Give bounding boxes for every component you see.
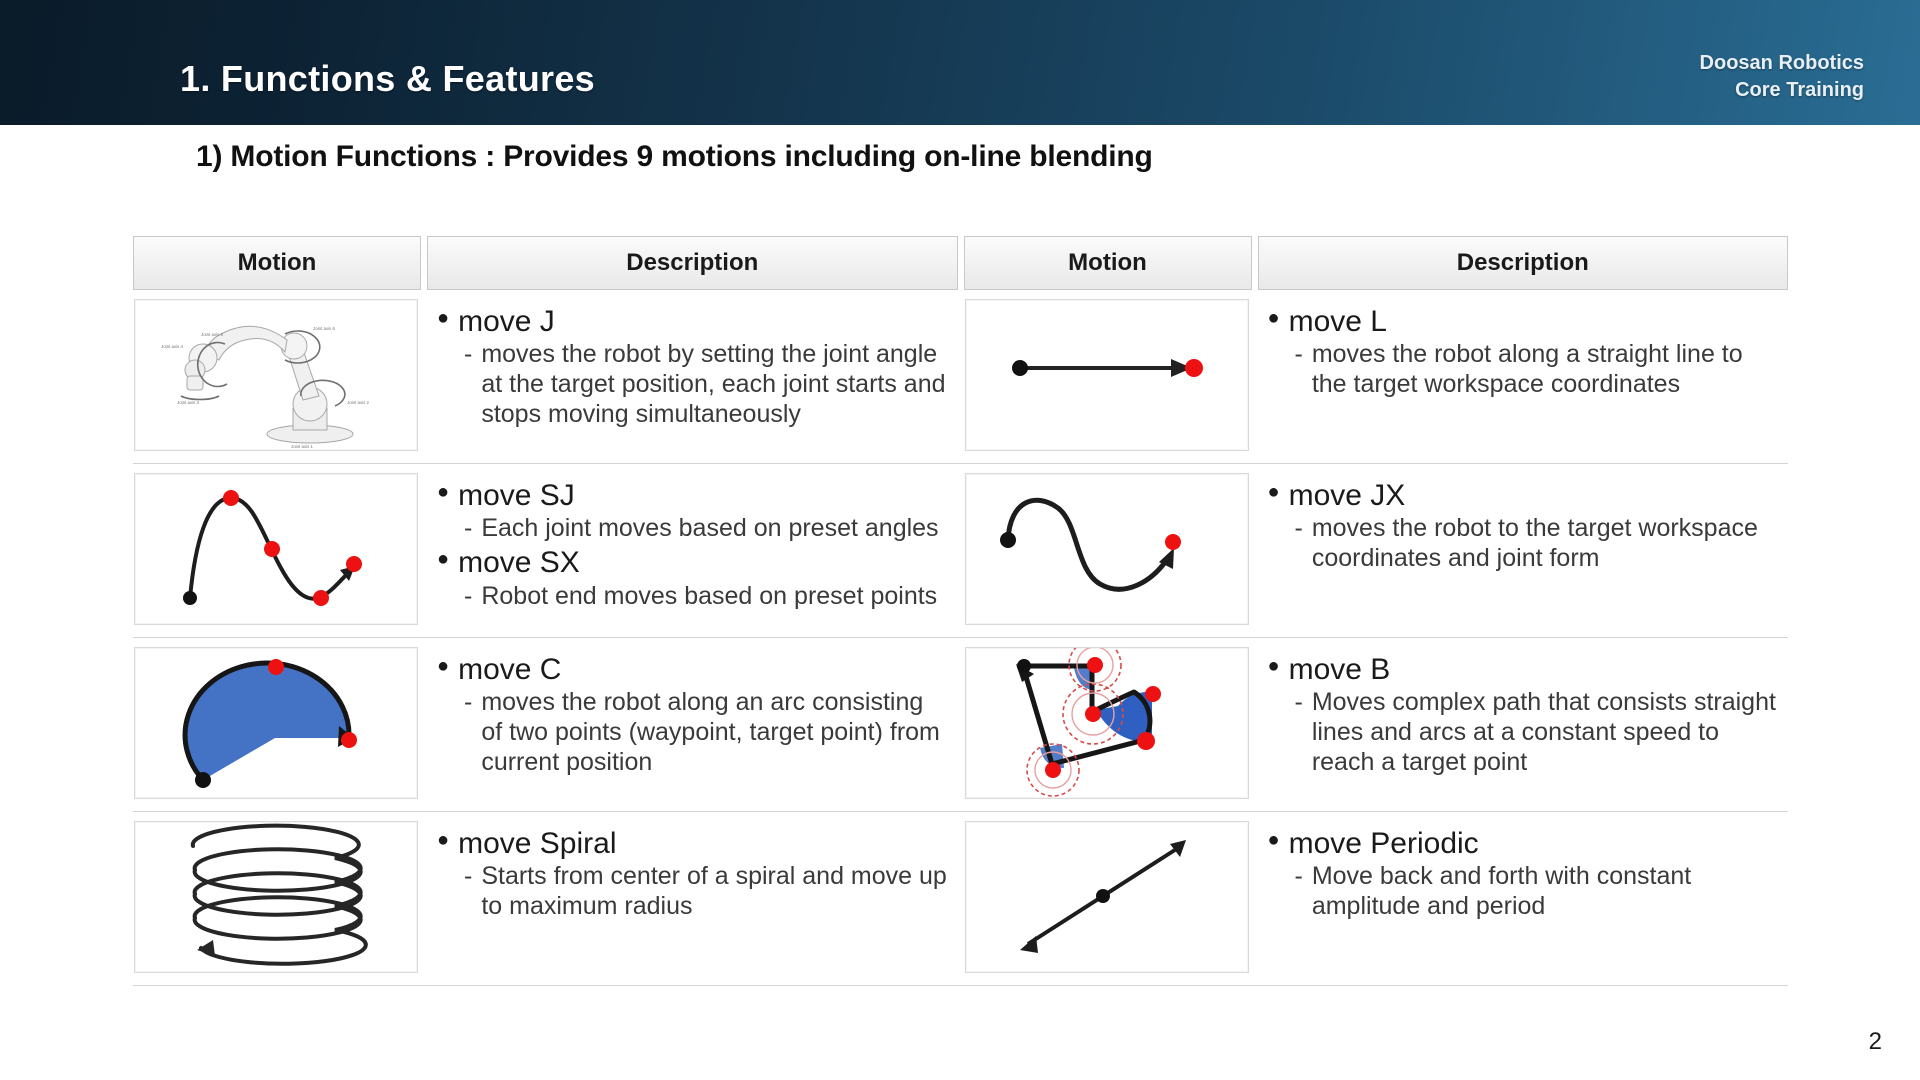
description-cell-move-j: ● move J - moves the robot by setting th… <box>425 290 958 463</box>
motion-entry: ● move B - Moves complex path that consi… <box>1268 652 1779 777</box>
diagram-blended-path-lines-and-arcs <box>965 647 1249 799</box>
description-cell-move-jx: ● move JX - moves the robot to the targe… <box>1256 464 1789 637</box>
motion-description: - moves the robot to the target workspac… <box>1295 513 1779 573</box>
motion-cell-move-b <box>964 638 1250 811</box>
description-cell-move-b: ● move B - Moves complex path that consi… <box>1256 638 1789 811</box>
bullet-icon: ● <box>1268 478 1280 507</box>
motion-cell-move-jx <box>964 464 1250 637</box>
motion-name: ● move Periodic <box>1268 826 1779 861</box>
motion-description: - moves the robot along an arc consistin… <box>464 687 948 777</box>
dash-icon: - <box>464 861 472 891</box>
motion-description: - Robot end moves based on preset points <box>464 581 948 611</box>
svg-text:Joint axis 6: Joint axis 6 <box>313 326 336 331</box>
motion-cell-move-sj-sx <box>133 464 419 637</box>
bullet-icon: ● <box>437 545 449 574</box>
motion-description: - moves the robot by setting the joint a… <box>464 339 948 429</box>
dash-icon: - <box>1295 339 1303 369</box>
column-header-motion-left: Motion <box>133 236 421 290</box>
dash-icon: - <box>464 513 472 543</box>
section-subtitle: 1) Motion Functions : Provides 9 motions… <box>196 140 1153 174</box>
column-header-motion-right: Motion <box>964 236 1252 290</box>
table-header-row: Motion Description Motion Description <box>133 236 1788 290</box>
description-cell-move-sj-sx: ● move SJ - Each joint moves based on pr… <box>425 464 958 637</box>
table-row: ● move SJ - Each joint moves based on pr… <box>133 464 1788 638</box>
motion-entry: ● move J - moves the robot by setting th… <box>437 304 948 429</box>
svg-text:Joint axis 3: Joint axis 3 <box>177 400 200 405</box>
motion-name: ● move JX <box>1268 478 1779 513</box>
dash-icon: - <box>1295 687 1303 717</box>
motion-cell-move-l <box>964 290 1250 463</box>
motion-cell-move-c <box>133 638 419 811</box>
description-cell-move-periodic: ● move Periodic - Move back and forth wi… <box>1256 812 1789 985</box>
motion-name: ● move Spiral <box>437 826 948 861</box>
page-title: 1. Functions & Features <box>180 58 595 100</box>
motion-functions-table: Motion Description Motion Description <box>133 236 1788 986</box>
column-header-description-left: Description <box>427 236 958 290</box>
bullet-icon: ● <box>1268 304 1280 333</box>
motion-entry: ● move SJ - Each joint moves based on pr… <box>437 478 948 543</box>
brand-line-2: Core Training <box>1700 77 1864 104</box>
svg-text:Joint axis 4: Joint axis 4 <box>161 344 184 349</box>
diagram-straight-line-arrow <box>965 299 1249 451</box>
motion-name: ● move SJ <box>437 478 948 513</box>
motion-description: - Move back and forth with constant ampl… <box>1295 861 1779 921</box>
slide-header-band: 1. Functions & Features Doosan Robotics … <box>0 0 1920 125</box>
dash-icon: - <box>1295 861 1303 891</box>
motion-description: - moves the robot along a straight line … <box>1295 339 1779 399</box>
column-header-description-right: Description <box>1258 236 1789 290</box>
motion-description: - Moves complex path that consists strai… <box>1295 687 1779 777</box>
dash-icon: - <box>464 339 472 369</box>
motion-name: ● move L <box>1268 304 1779 339</box>
diagram-helical-spiral <box>134 821 418 973</box>
svg-text:Joint axis 2: Joint axis 2 <box>347 400 370 405</box>
motion-name: ● move B <box>1268 652 1779 687</box>
table-row: Joint axis 6 Joint axis 5 Joint axis 4 J… <box>133 290 1788 464</box>
bullet-icon: ● <box>1268 826 1280 855</box>
motion-entry: ● move Spiral - Starts from center of a … <box>437 826 948 921</box>
motion-entry: ● move C - moves the robot along an arc … <box>437 652 948 777</box>
motion-name: ● move SX <box>437 545 948 580</box>
motion-description: - Each joint moves based on preset angle… <box>464 513 948 543</box>
motion-name: ● move J <box>437 304 948 339</box>
diagram-double-headed-diagonal-arrow <box>965 821 1249 973</box>
dash-icon: - <box>1295 513 1303 543</box>
diagram-spline-curve-with-waypoints <box>134 473 418 625</box>
motion-cell-move-periodic <box>964 812 1250 985</box>
diagram-arc-wedge-two-points <box>134 647 418 799</box>
description-cell-move-c: ● move C - moves the robot along an arc … <box>425 638 958 811</box>
table-row: ● move C - moves the robot along an arc … <box>133 638 1788 812</box>
brand-line-1: Doosan Robotics <box>1700 50 1864 77</box>
bullet-icon: ● <box>437 826 449 855</box>
motion-entry: ● move L - moves the robot along a strai… <box>1268 304 1779 399</box>
diagram-robot-arm-joint-axes: Joint axis 6 Joint axis 5 Joint axis 4 J… <box>134 299 418 451</box>
motion-description: - Starts from center of a spiral and mov… <box>464 861 948 921</box>
dash-icon: - <box>464 687 472 717</box>
motion-name: ● move C <box>437 652 948 687</box>
dash-icon: - <box>464 581 472 611</box>
svg-text:Joint axis 5: Joint axis 5 <box>201 332 224 337</box>
motion-cell-move-spiral <box>133 812 419 985</box>
page-number: 2 <box>1869 1028 1882 1056</box>
description-cell-move-spiral: ● move Spiral - Starts from center of a … <box>425 812 958 985</box>
svg-text:Joint axis 1: Joint axis 1 <box>291 444 314 449</box>
bullet-icon: ● <box>1268 652 1280 681</box>
motion-entry: ● move SX - Robot end moves based on pre… <box>437 545 948 610</box>
description-cell-move-l: ● move L - moves the robot along a strai… <box>1256 290 1789 463</box>
brand-block: Doosan Robotics Core Training <box>1700 50 1864 104</box>
diagram-s-curve-to-target <box>965 473 1249 625</box>
motion-cell-move-j: Joint axis 6 Joint axis 5 Joint axis 4 J… <box>133 290 419 463</box>
bullet-icon: ● <box>437 304 449 333</box>
bullet-icon: ● <box>437 652 449 681</box>
motion-entry: ● move JX - moves the robot to the targe… <box>1268 478 1779 573</box>
table-row: ● move Spiral - Starts from center of a … <box>133 812 1788 986</box>
bullet-icon: ● <box>437 478 449 507</box>
motion-entry: ● move Periodic - Move back and forth wi… <box>1268 826 1779 921</box>
